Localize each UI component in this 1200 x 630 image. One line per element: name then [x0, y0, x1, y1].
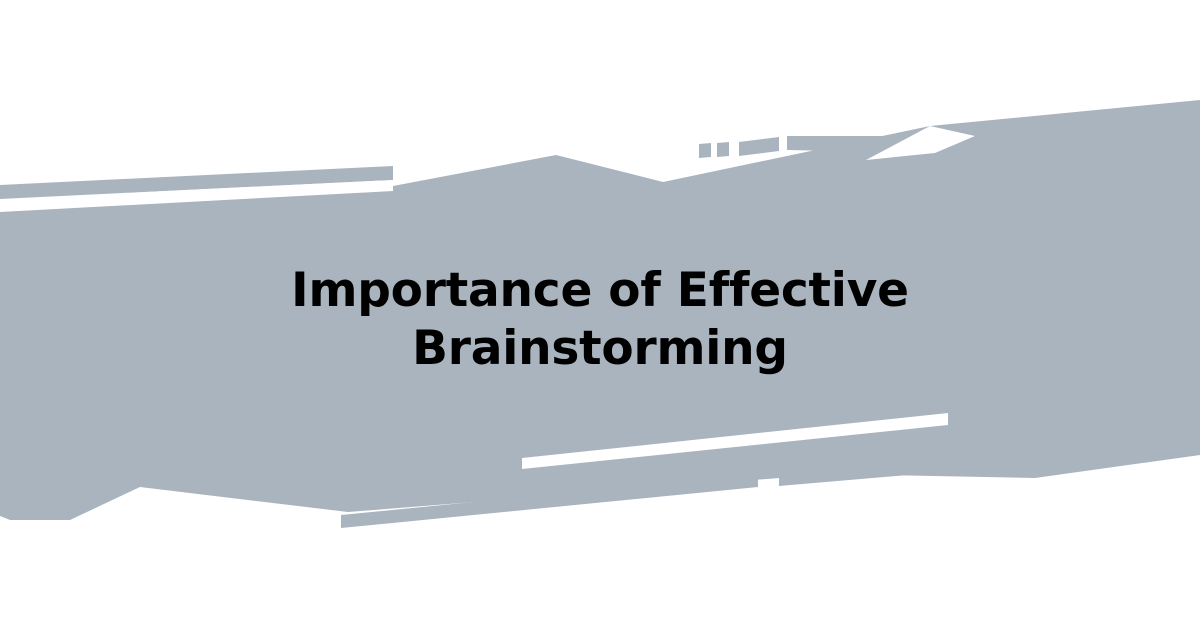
square-dash-2-icon [717, 142, 729, 157]
banner-background-art [0, 0, 1200, 630]
banner-card: Importance of Effective Brainstorming [0, 0, 1200, 630]
square-dash-1-icon [699, 143, 711, 158]
